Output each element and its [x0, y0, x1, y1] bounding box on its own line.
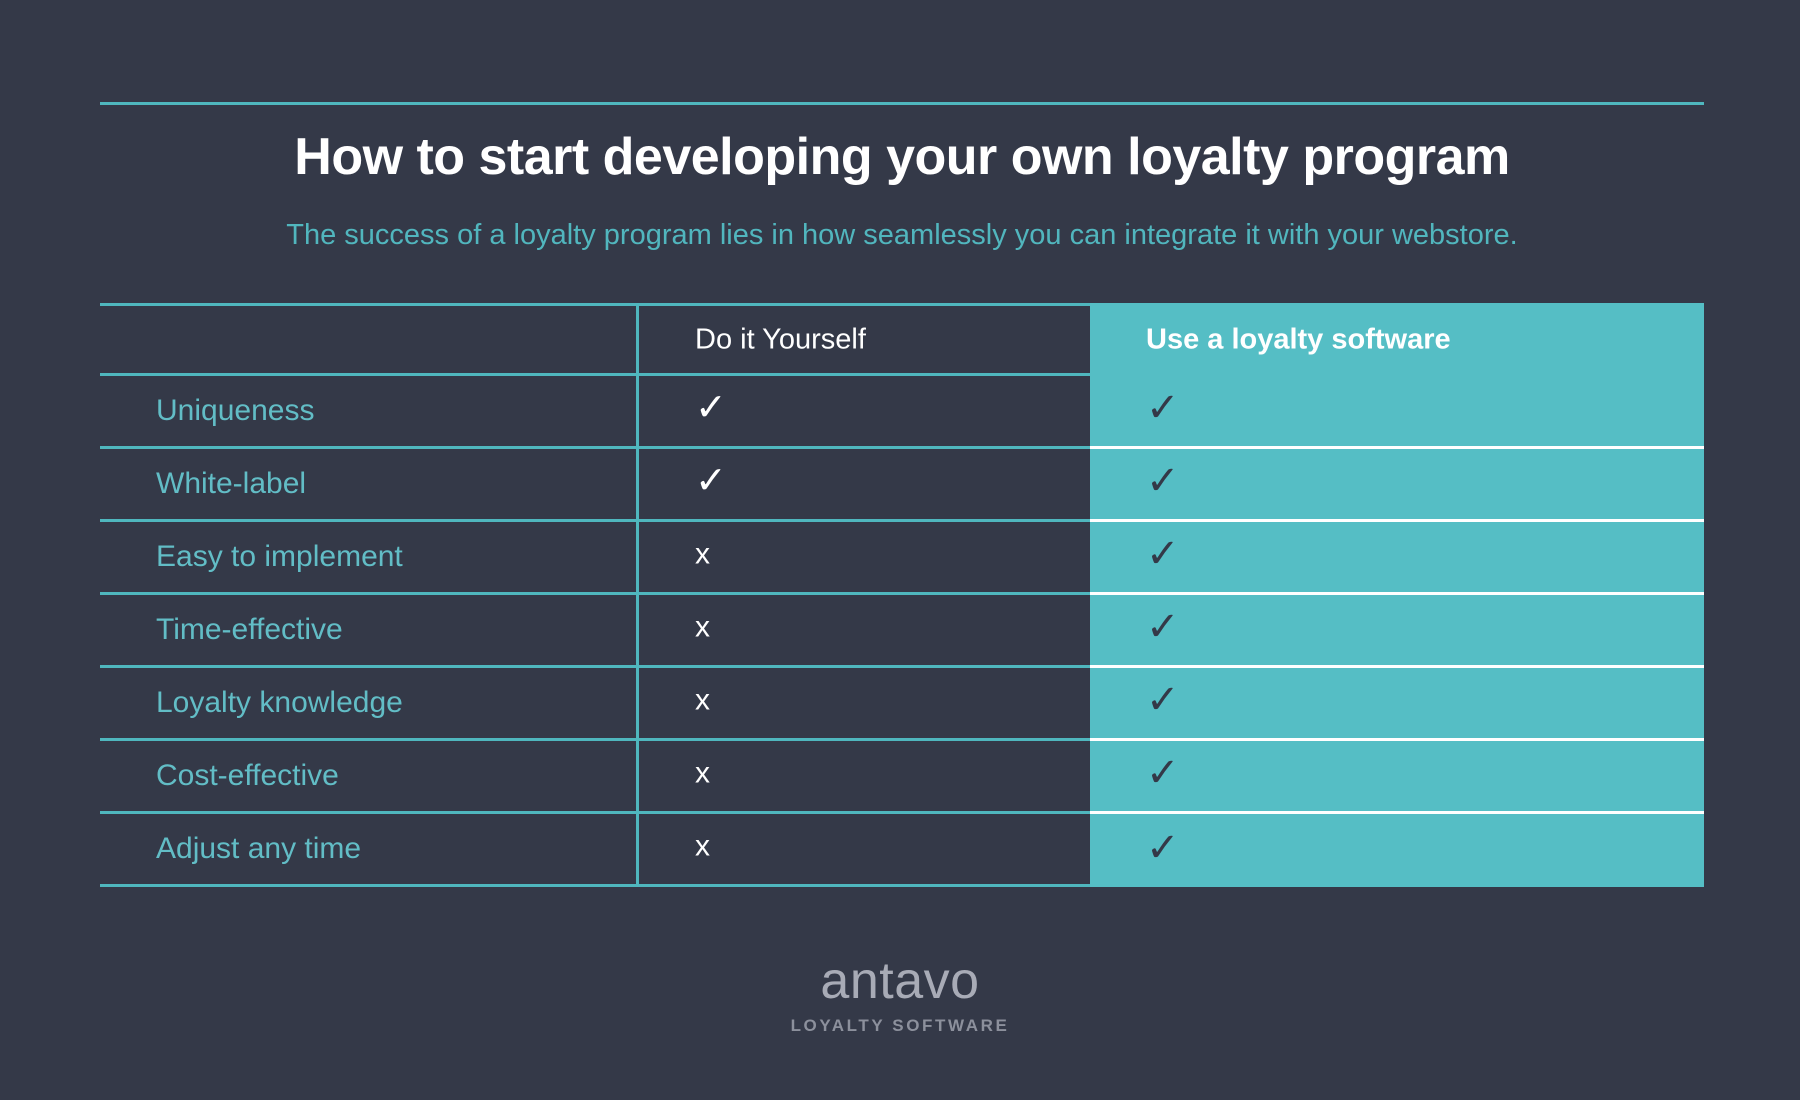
feature-label: Loyalty knowledge	[156, 686, 403, 720]
check-icon: ✓	[695, 389, 727, 427]
cross-icon: x	[695, 759, 710, 789]
feature-label: Uniqueness	[156, 394, 314, 428]
header-label-diy: Do it Yourself	[695, 323, 866, 356]
cell-feature: White-label	[100, 449, 636, 522]
table-row: Loyalty knowledge x ✓	[100, 668, 1704, 741]
cell-software: ✓	[1090, 741, 1704, 814]
table-row: Time-effective x ✓	[100, 595, 1704, 668]
top-divider-rule	[100, 102, 1704, 105]
check-icon: ✓	[1146, 680, 1180, 720]
cell-feature: Time-effective	[100, 595, 636, 668]
page-subtitle: The success of a loyalty program lies in…	[100, 218, 1704, 253]
cell-software: ✓	[1090, 595, 1704, 668]
cell-software: ✓	[1090, 522, 1704, 595]
cell-software: ✓	[1090, 668, 1704, 741]
slide-canvas: How to start developing your own loyalty…	[0, 0, 1800, 1100]
cross-icon: x	[695, 613, 710, 643]
check-icon: ✓	[1146, 607, 1180, 647]
cross-icon: x	[695, 540, 710, 570]
header-label-software: Use a loyalty software	[1146, 323, 1451, 356]
check-icon: ✓	[1146, 534, 1180, 574]
check-icon: ✓	[1146, 388, 1180, 428]
table-row: Uniqueness ✓ ✓	[100, 376, 1704, 449]
comparison-table: Do it Yourself Use a loyalty software Un…	[100, 303, 1704, 887]
check-icon: ✓	[1146, 827, 1180, 867]
brand-tagline: LOYALTY SOFTWARE	[0, 1017, 1800, 1034]
table-header-row: Do it Yourself Use a loyalty software	[100, 303, 1704, 376]
feature-label: Easy to implement	[156, 540, 403, 574]
cell-software: ✓	[1090, 814, 1704, 887]
header-cell-software: Use a loyalty software	[1090, 303, 1704, 376]
cell-feature: Adjust any time	[100, 814, 636, 887]
feature-label: Cost-effective	[156, 759, 339, 793]
cell-feature: Uniqueness	[100, 376, 636, 449]
check-icon: ✓	[1146, 753, 1180, 793]
brand-logo: antavo LOYALTY SOFTWARE	[0, 955, 1800, 1034]
cell-software: ✓	[1090, 376, 1704, 449]
cell-diy: x	[636, 814, 1090, 887]
feature-label: White-label	[156, 467, 306, 501]
cross-icon: x	[695, 832, 710, 862]
check-icon: ✓	[1146, 461, 1180, 501]
feature-label: Adjust any time	[156, 832, 361, 866]
table-row: Easy to implement x ✓	[100, 522, 1704, 595]
cell-diy: x	[636, 741, 1090, 814]
cell-diy: x	[636, 668, 1090, 741]
table-row: Adjust any time x ✓	[100, 814, 1704, 887]
cell-diy: ✓	[636, 449, 1090, 522]
cell-feature: Loyalty knowledge	[100, 668, 636, 741]
feature-label: Time-effective	[156, 613, 343, 647]
cell-diy: ✓	[636, 376, 1090, 449]
cell-diy: x	[636, 522, 1090, 595]
brand-wordmark: antavo	[0, 955, 1800, 1007]
table-row: Cost-effective x ✓	[100, 741, 1704, 814]
check-icon: ✓	[695, 462, 727, 500]
cell-software: ✓	[1090, 449, 1704, 522]
cell-feature: Easy to implement	[100, 522, 636, 595]
cell-feature: Cost-effective	[100, 741, 636, 814]
table-row: White-label ✓ ✓	[100, 449, 1704, 522]
cell-diy: x	[636, 595, 1090, 668]
header-cell-feature	[100, 303, 636, 376]
header-cell-diy: Do it Yourself	[636, 303, 1090, 376]
cross-icon: x	[695, 686, 710, 716]
page-title: How to start developing your own loyalty…	[100, 128, 1704, 188]
